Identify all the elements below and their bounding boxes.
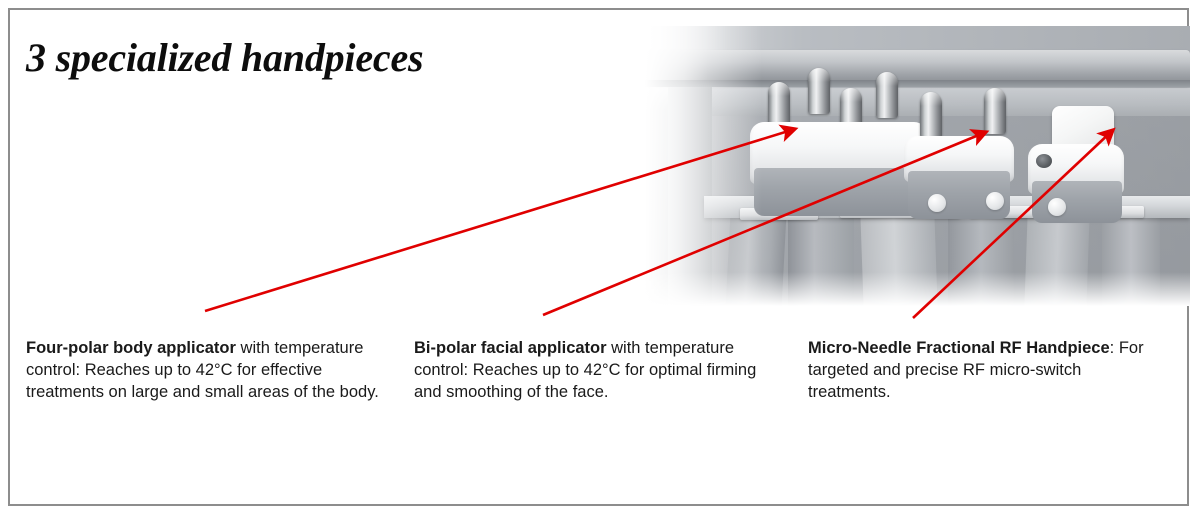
product-photo [612, 26, 1190, 306]
caption-four-polar-title: Four-polar body applicator [26, 339, 236, 357]
page-title: 3 specialized handpieces [26, 34, 423, 81]
handpiece-lower-shell [1032, 181, 1122, 223]
caption-four-polar: Four-polar body applicator with temperat… [26, 337, 386, 403]
caption-micro-needle-title: Micro-Needle Fractional RF Handpiece [808, 339, 1110, 357]
handpiece-side-knob [986, 192, 1004, 210]
caption-micro-needle: Micro-Needle Fractional RF Handpiece: Fo… [808, 337, 1168, 403]
electrode-pin [808, 68, 830, 114]
caption-bi-polar: Bi-polar facial applicator with temperat… [414, 337, 774, 403]
handpiece-side-knob [1048, 198, 1066, 216]
page-root: 3 specialized handpieces [0, 0, 1200, 515]
caption-bi-polar-title: Bi-polar facial applicator [414, 339, 607, 357]
handpiece-side-knob [928, 194, 946, 212]
photo-left-fade [612, 26, 762, 306]
photo-bottom-fade [612, 272, 1190, 306]
handpiece-indicator-port [1036, 154, 1052, 168]
electrode-pin [876, 72, 898, 118]
handpiece-lower-shell [754, 168, 924, 216]
electrode-pin [920, 92, 942, 138]
electrode-pin [984, 88, 1006, 134]
